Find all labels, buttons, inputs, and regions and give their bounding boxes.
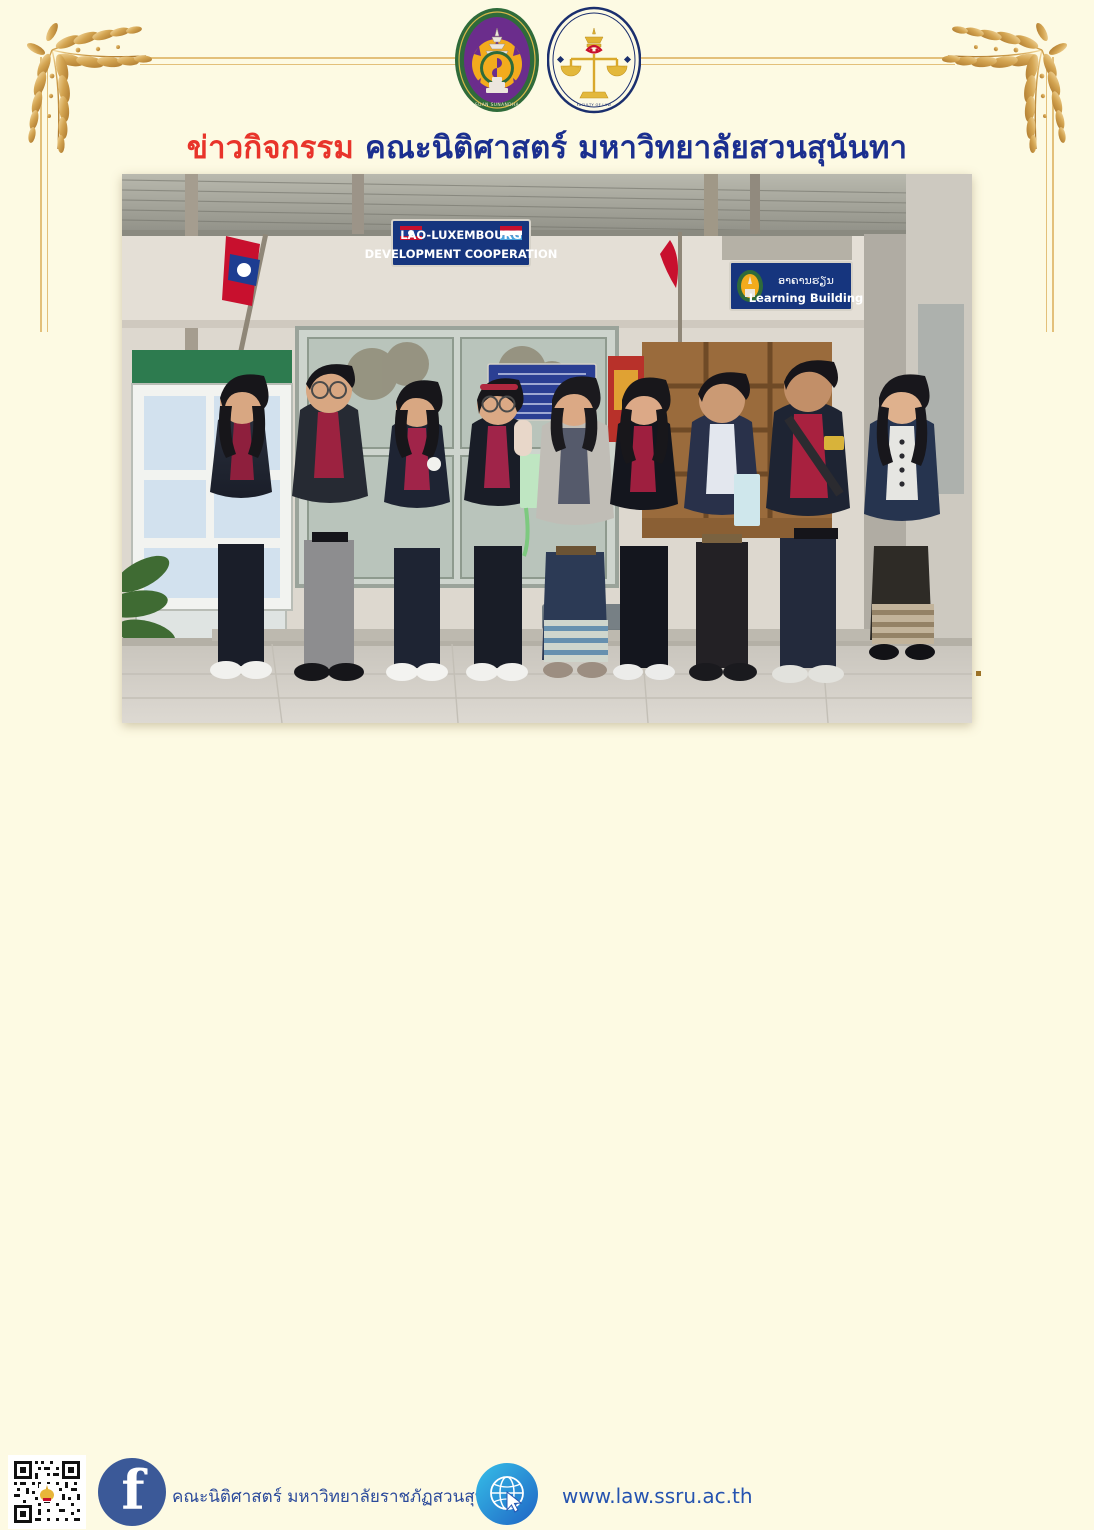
page-title-red: ข่าวกิจกรรม — [187, 130, 354, 166]
faculty-of-law-seal-icon: FACULTY OF LAW — [547, 6, 641, 114]
page-title-blue: คณะนิติศาสตร์ มหาวิทยาลัยสวนสุนันทา — [365, 130, 907, 166]
facebook-icon[interactable]: f — [98, 1458, 166, 1526]
svg-text:FACULTY OF LAW: FACULTY OF LAW — [577, 103, 612, 107]
learning-building-sign: ອາຄານຮຽນ Learning Building — [730, 262, 863, 310]
page-title: ข่าวกิจกรรม คณะนิติศาสตร์ มหาวิทยาลัยสวน… — [0, 122, 1094, 172]
facebook-page-label: คณะนิติศาสตร์ มหาวิทยาลัยราชภัฏสวนสุนันท… — [172, 1483, 519, 1510]
qr-code[interactable] — [8, 1455, 86, 1529]
website-url-label[interactable]: www.law.ssru.ac.th — [562, 1484, 753, 1508]
group-photo-illustration: LAO-LUXEMBOURG DEVELOPMENT COOPERATION ອ… — [122, 174, 972, 723]
svg-text:LAO-LUXEMBOURG: LAO-LUXEMBOURG — [400, 228, 522, 242]
svg-text:DEVELOPMENT COOPERATION: DEVELOPMENT COOPERATION — [365, 247, 558, 261]
lao-luxembourg-sign: LAO-LUXEMBOURG DEVELOPMENT COOPERATION — [365, 220, 558, 266]
logo-row: SUAN SUNANDHA — [0, 6, 1094, 114]
gold-accent-dot — [976, 671, 981, 676]
ssru-university-seal-icon: SUAN SUNANDHA — [453, 6, 541, 114]
qr-center-emblem — [39, 1484, 55, 1502]
globe-cursor-icon[interactable] — [476, 1463, 538, 1525]
svg-text:SUAN SUNANDHA: SUAN SUNANDHA — [475, 102, 519, 108]
svg-text:ອາຄານຮຽນ: ອາຄານຮຽນ — [778, 274, 834, 287]
activity-photo: LAO-LUXEMBOURG DEVELOPMENT COOPERATION ອ… — [122, 174, 972, 723]
footer: f คณะนิติศาสตร์ มหาวิทยาลัยราชภัฏสวนสุนั… — [0, 723, 1094, 813]
svg-text:Learning Building: Learning Building — [749, 291, 864, 305]
